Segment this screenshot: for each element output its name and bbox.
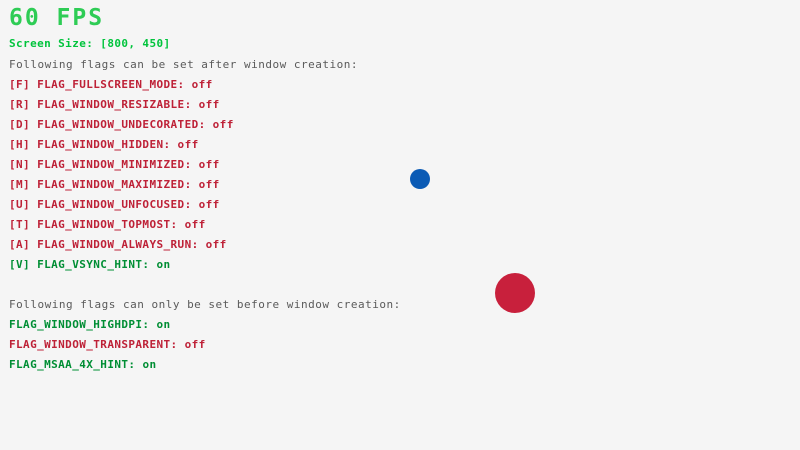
flag-value: off	[199, 98, 220, 111]
red-ball-shape	[495, 273, 535, 313]
runtime-flag-flag-window-resizable[interactable]: [R] FLAG_WINDOW_RESIZABLE: off	[9, 98, 220, 111]
runtime-flag-flag-vsync-hint[interactable]: [V] FLAG_VSYNC_HINT: on	[9, 258, 171, 271]
flag-value: off	[199, 178, 220, 191]
runtime-flag-flag-fullscreen-mode[interactable]: [F] FLAG_FULLSCREEN_MODE: off	[9, 78, 213, 91]
flag-value: on	[156, 318, 170, 331]
runtime-flag-flag-window-undecorated[interactable]: [D] FLAG_WINDOW_UNDECORATED: off	[9, 118, 234, 131]
flag-label: [M] FLAG_WINDOW_MAXIMIZED:	[9, 178, 199, 191]
section-header-before-creation: Following flags can only be set before w…	[9, 298, 401, 311]
flag-label: [T] FLAG_WINDOW_TOPMOST:	[9, 218, 185, 231]
flag-value: on	[142, 358, 156, 371]
section-header-after-creation: Following flags can be set after window …	[9, 58, 358, 71]
flag-label: FLAG_WINDOW_TRANSPARENT:	[9, 338, 185, 351]
flag-label: FLAG_WINDOW_HIGHDPI:	[9, 318, 156, 331]
runtime-flag-flag-window-always-run[interactable]: [A] FLAG_WINDOW_ALWAYS_RUN: off	[9, 238, 227, 251]
flag-value: off	[199, 158, 220, 171]
flag-label: [R] FLAG_WINDOW_RESIZABLE:	[9, 98, 199, 111]
screen-size-label: Screen Size: [800, 450]	[9, 37, 171, 50]
flag-label: [N] FLAG_WINDOW_MINIMIZED:	[9, 158, 199, 171]
flag-label: [U] FLAG_WINDOW_UNFOCUSED:	[9, 198, 199, 211]
flag-label: [A] FLAG_WINDOW_ALWAYS_RUN:	[9, 238, 206, 251]
flag-label: [H] FLAG_WINDOW_HIDDEN:	[9, 138, 178, 151]
flag-value: off	[192, 78, 213, 91]
creation-flag-flag-window-transparent[interactable]: FLAG_WINDOW_TRANSPARENT: off	[9, 338, 206, 351]
flag-value: on	[156, 258, 170, 271]
flag-label: [V] FLAG_VSYNC_HINT:	[9, 258, 156, 271]
blue-ball-shape	[410, 169, 430, 189]
runtime-flag-flag-window-hidden[interactable]: [H] FLAG_WINDOW_HIDDEN: off	[9, 138, 199, 151]
flag-value: off	[213, 118, 234, 131]
flag-value: off	[178, 138, 199, 151]
flag-label: [F] FLAG_FULLSCREEN_MODE:	[9, 78, 192, 91]
flag-value: off	[185, 338, 206, 351]
creation-flag-flag-window-highdpi[interactable]: FLAG_WINDOW_HIGHDPI: on	[9, 318, 171, 331]
runtime-flag-flag-window-minimized[interactable]: [N] FLAG_WINDOW_MINIMIZED: off	[9, 158, 220, 171]
flag-value: off	[199, 198, 220, 211]
raylib-window-flags-demo: 60 FPS Screen Size: [800, 450] Following…	[0, 0, 800, 450]
flag-value: off	[206, 238, 227, 251]
flag-label: [D] FLAG_WINDOW_UNDECORATED:	[9, 118, 213, 131]
runtime-flag-flag-window-topmost[interactable]: [T] FLAG_WINDOW_TOPMOST: off	[9, 218, 206, 231]
flag-value: off	[185, 218, 206, 231]
fps-counter: 60 FPS	[9, 5, 104, 31]
runtime-flag-flag-window-maximized[interactable]: [M] FLAG_WINDOW_MAXIMIZED: off	[9, 178, 220, 191]
flag-label: FLAG_MSAA_4X_HINT:	[9, 358, 142, 371]
runtime-flag-flag-window-unfocused[interactable]: [U] FLAG_WINDOW_UNFOCUSED: off	[9, 198, 220, 211]
creation-flag-flag-msaa-4x-hint[interactable]: FLAG_MSAA_4X_HINT: on	[9, 358, 156, 371]
